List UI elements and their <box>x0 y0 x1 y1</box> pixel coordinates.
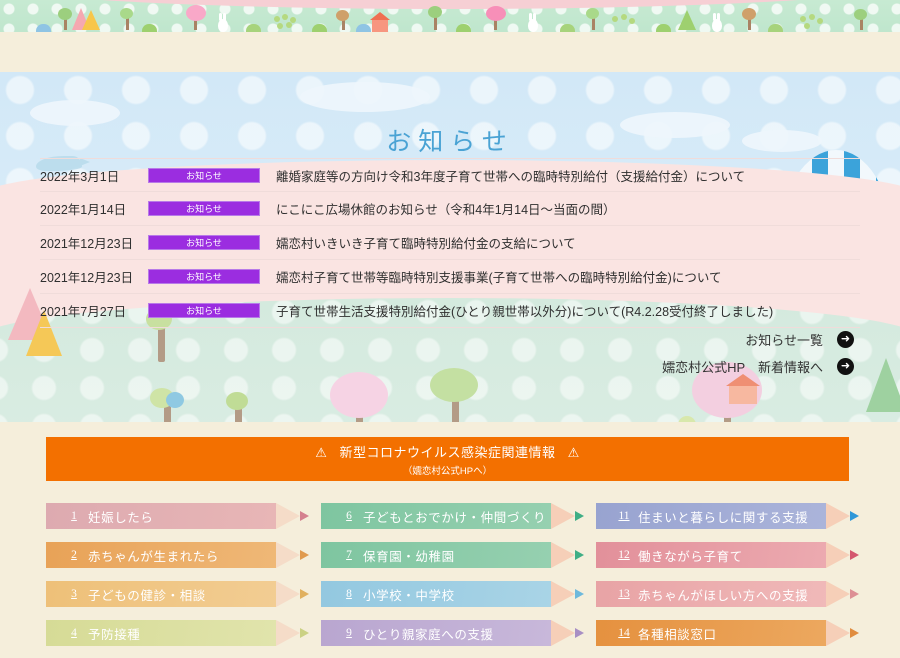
menu-item-number: 14 <box>610 627 638 639</box>
news-date: 2022年1月14日 <box>40 199 148 218</box>
chevron-right-icon[interactable] <box>300 550 309 560</box>
news-link[interactable]: にこにこ広場休館のお知らせ（令和4年1月14日〜当面の間） <box>276 199 860 218</box>
news-list-item[interactable]: 2022年1月14日 お知らせ にこにこ広場休館のお知らせ（令和4年1月14日〜… <box>40 192 860 226</box>
cloud-icon <box>300 82 430 112</box>
menu-item-12[interactable]: 12 働きながら子育て <box>596 542 853 568</box>
menu-item-number: 13 <box>610 588 638 600</box>
cone-tree-icon <box>866 358 900 412</box>
menu-item-13[interactable]: 13 赤ちゃんがほしい方への支援 <box>596 581 853 607</box>
bush-icon <box>312 24 327 32</box>
bunny-icon <box>528 19 538 32</box>
news-list-item[interactable]: 2021年12月23日 お知らせ 嬬恋村いきいき子育て臨時特別給付金の支給につい… <box>40 226 860 260</box>
menu-item-3[interactable]: 3 子どもの健診・相談 <box>46 581 303 607</box>
chevron-right-icon[interactable] <box>575 550 584 560</box>
news-archive-link[interactable]: お知らせ一覧 ➜ <box>662 330 854 349</box>
bar-tip-shape <box>551 620 575 646</box>
tree-icon <box>150 388 184 422</box>
status-badge: お知らせ <box>148 235 260 250</box>
page-title: お知らせ <box>0 122 900 158</box>
menu-item-number: 3 <box>60 588 88 600</box>
bar-tip-shape <box>551 581 575 607</box>
menu-item-number: 1 <box>60 510 88 522</box>
bar-tip-shape <box>826 620 850 646</box>
menu-item-label: 子どもとおでかけ・仲間づくり <box>363 507 546 526</box>
chevron-right-icon[interactable] <box>300 628 309 638</box>
menu-item-number: 6 <box>335 510 363 522</box>
cone-tree-icon <box>678 10 696 30</box>
menu-item-label: 働きながら子育て <box>638 546 743 565</box>
chevron-right-icon[interactable] <box>850 589 859 599</box>
arrow-right-circle-icon[interactable]: ➜ <box>837 358 854 375</box>
chevron-right-icon[interactable] <box>575 511 584 521</box>
bar-tip-shape <box>276 503 300 529</box>
menu-column-2: 6 子どもとおでかけ・仲間づくり 7 保育園・幼稚園 8 小学校・中学校 <box>321 503 578 658</box>
covid-info-banner[interactable]: ⚠ 新型コロナウイルス感染症関連情報 ⚠ （嬬恋村公式HPへ） <box>46 437 849 481</box>
berries-icon <box>800 14 824 32</box>
bush-icon <box>246 24 261 32</box>
news-date: 2021年12月23日 <box>40 233 148 252</box>
bush-icon <box>656 24 671 32</box>
menu-column-1: 1 妊娠したら 2 赤ちゃんが生まれたら 3 子どもの健診・相談 <box>46 503 303 658</box>
house-icon <box>372 19 388 32</box>
menu-item-number: 7 <box>335 549 363 561</box>
bush-icon <box>456 24 471 32</box>
news-link[interactable]: 嬬恋村子育て世帯等臨時特別支援事業(子育て世帯への臨時特別給付金)について <box>276 267 860 286</box>
bar-tip-shape <box>276 581 300 607</box>
bar-tip-shape <box>276 542 300 568</box>
cream-spacer <box>0 32 900 72</box>
menu-item-9[interactable]: 9 ひとり親家庭への支援 <box>321 620 578 646</box>
menu-item-label: 赤ちゃんが生まれたら <box>88 546 219 565</box>
menu-column-3: 11 住まいと暮らしに関する支援 12 働きながら子育て 13 赤ちゃんがほしい… <box>596 503 853 658</box>
news-archive-label: お知らせ一覧 <box>745 330 823 349</box>
menu-item-label: 妊娠したら <box>88 507 154 526</box>
chevron-right-icon[interactable] <box>850 550 859 560</box>
tree-icon <box>226 392 250 422</box>
menu-item-2[interactable]: 2 赤ちゃんが生まれたら <box>46 542 303 568</box>
pink-hill-shape <box>0 0 900 9</box>
news-link[interactable]: 離婚家庭等の方向け令和3年度子育て世帯への臨時特別給付（支援給付金）について <box>276 166 860 185</box>
arrow-right-circle-icon[interactable]: ➜ <box>837 331 854 348</box>
menu-item-number: 2 <box>60 549 88 561</box>
bunny-icon <box>712 19 722 32</box>
menu-item-number: 9 <box>335 627 363 639</box>
status-badge: お知らせ <box>148 303 260 318</box>
berries-icon <box>612 14 636 32</box>
chevron-right-icon[interactable] <box>850 511 859 521</box>
menu-item-number: 4 <box>60 627 88 639</box>
chevron-right-icon[interactable] <box>575 589 584 599</box>
menu-item-label: 子どもの健診・相談 <box>88 585 206 604</box>
news-link[interactable]: 子育て世帯生活支援特別給付金(ひとり親世帯以外分)について(R4.2.28受付終… <box>276 301 860 320</box>
menu-item-label: 住まいと暮らしに関する支援 <box>638 507 808 526</box>
berries-icon <box>274 14 298 32</box>
news-footer-links: お知らせ一覧 ➜ 嬬恋村公式HP 新着情報へ ➜ <box>662 330 854 384</box>
menu-item-number: 12 <box>610 549 638 561</box>
news-date: 2021年12月23日 <box>40 267 148 286</box>
official-site-link[interactable]: 嬬恋村公式HP 新着情報へ ➜ <box>662 357 854 376</box>
menu-item-11[interactable]: 11 住まいと暮らしに関する支援 <box>596 503 853 529</box>
menu-item-label: 保育園・幼稚園 <box>363 546 455 565</box>
berries-icon <box>660 412 720 422</box>
tree-icon <box>430 368 480 422</box>
bush-icon <box>36 24 51 32</box>
cone-tree-icon <box>82 10 100 30</box>
menu-item-label: ひとり親家庭への支援 <box>363 624 494 643</box>
bar-tip-shape <box>826 581 850 607</box>
chevron-right-icon[interactable] <box>850 628 859 638</box>
news-list-item[interactable]: 2021年7月27日 お知らせ 子育て世帯生活支援特別給付金(ひとり親世帯以外分… <box>40 294 860 328</box>
official-site-label: 嬬恋村公式HP 新着情報へ <box>662 357 823 376</box>
news-list-item[interactable]: 2021年12月23日 お知らせ 嬬恋村子育て世帯等臨時特別支援事業(子育て世帯… <box>40 260 860 294</box>
bunny-icon <box>218 19 228 32</box>
chevron-right-icon[interactable] <box>300 511 309 521</box>
menu-item-6[interactable]: 6 子どもとおでかけ・仲間づくり <box>321 503 578 529</box>
covid-banner-subtitle: （嬬恋村公式HPへ） <box>46 463 849 477</box>
menu-item-1[interactable]: 1 妊娠したら <box>46 503 303 529</box>
news-list: 2022年3月1日 お知らせ 離婚家庭等の方向け令和3年度子育て世帯への臨時特別… <box>40 158 860 328</box>
chevron-right-icon[interactable] <box>300 589 309 599</box>
menu-item-label: 各種相談窓口 <box>638 624 717 643</box>
status-badge: お知らせ <box>148 168 260 183</box>
cherry-tree-icon <box>330 372 390 422</box>
bar-tip-shape <box>276 620 300 646</box>
bush-icon <box>142 24 157 32</box>
covid-banner-title: 新型コロナウイルス感染症関連情報 <box>339 445 555 460</box>
menu-item-label: 小学校・中学校 <box>363 585 455 604</box>
menu-item-label: 予防接種 <box>88 624 140 643</box>
category-menu: 1 妊娠したら 2 赤ちゃんが生まれたら 3 子どもの健診・相談 <box>46 503 854 658</box>
warning-triangle-icon: ⚠ <box>315 445 327 461</box>
menu-item-number: 8 <box>335 588 363 600</box>
menu-item-4[interactable]: 4 予防接種 <box>46 620 303 646</box>
news-date: 2022年3月1日 <box>40 166 148 185</box>
bush-icon <box>356 24 371 32</box>
bush-icon <box>560 24 575 32</box>
news-list-item[interactable]: 2022年3月1日 お知らせ 離婚家庭等の方向け令和3年度子育て世帯への臨時特別… <box>40 158 860 192</box>
menu-item-label: 赤ちゃんがほしい方への支援 <box>638 585 808 604</box>
chevron-right-icon[interactable] <box>575 628 584 638</box>
bar-tip-shape <box>551 542 575 568</box>
menu-item-14[interactable]: 14 各種相談窓口 <box>596 620 853 646</box>
warning-triangle-icon: ⚠ <box>568 445 580 461</box>
bar-tip-shape <box>826 542 850 568</box>
news-link[interactable]: 嬬恋村いきいき子育て臨時特別給付金の支給について <box>276 233 860 252</box>
menu-item-8[interactable]: 8 小学校・中学校 <box>321 581 578 607</box>
menu-item-number: 11 <box>610 510 638 522</box>
menu-item-7[interactable]: 7 保育園・幼稚園 <box>321 542 578 568</box>
news-date: 2021年7月27日 <box>40 301 148 320</box>
page-root: お知らせ 2022年3月1日 お知らせ 離婚家庭等の方向け令和3年度子育て世帯へ… <box>0 0 900 658</box>
status-badge: お知らせ <box>148 269 260 284</box>
bar-tip-shape <box>551 503 575 529</box>
bush-icon <box>768 24 783 32</box>
status-badge: お知らせ <box>148 201 260 216</box>
bar-tip-shape <box>826 503 850 529</box>
top-decorative-band <box>0 0 900 32</box>
